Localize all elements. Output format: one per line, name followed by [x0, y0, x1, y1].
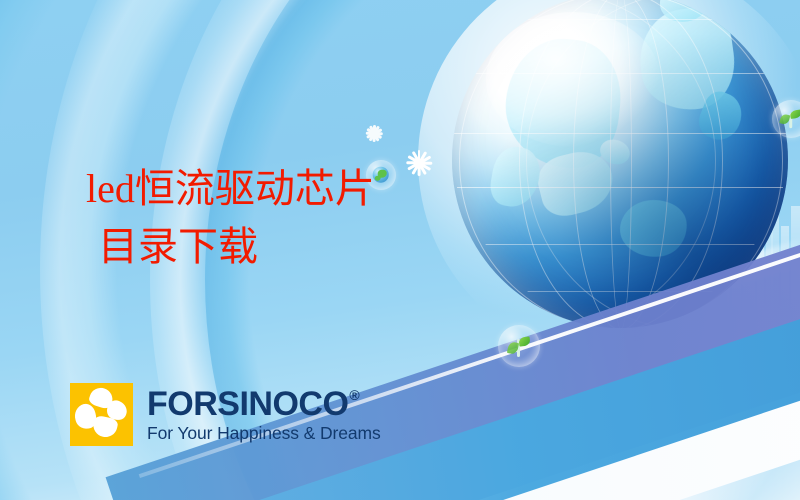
logo-text-block: FORSINOCO ® For Your Happiness & Dreams	[147, 387, 381, 443]
pinwheel-flower-icon	[70, 383, 133, 446]
headline-line-1: led恒流驱动芯片	[86, 160, 375, 218]
green-sprout-icon	[790, 110, 800, 120]
bubble-edge-content	[779, 107, 800, 131]
promotional-banner: led恒流驱动芯片 目录下载 FORSINOCO ® For Your Happ…	[0, 0, 800, 500]
sparkle-small-icon	[366, 125, 383, 142]
logo-wordmark-text: FORSINOCO	[147, 387, 348, 421]
sparkle-left-icon	[406, 150, 432, 176]
headline-line-2: 目录下载	[98, 218, 375, 276]
registered-trademark-icon: ®	[349, 388, 359, 402]
company-logo[interactable]: FORSINOCO ® For Your Happiness & Dreams	[70, 383, 381, 446]
bubble-sprout	[498, 325, 540, 367]
logo-tagline: For Your Happiness & Dreams	[147, 423, 381, 443]
bubble-sprout-content	[506, 333, 532, 359]
logo-wordmark: FORSINOCO ®	[147, 387, 381, 421]
green-sprout-icon	[519, 337, 531, 347]
headline-text-block: led恒流驱动芯片 目录下载	[86, 160, 375, 276]
